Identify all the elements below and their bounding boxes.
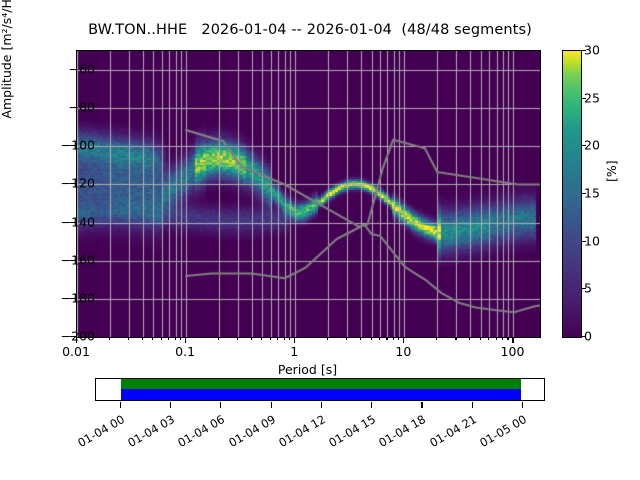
colorbar-tick-label: 30 bbox=[584, 43, 600, 58]
x-tick-mark bbox=[237, 337, 238, 340]
x-tick-mark bbox=[371, 337, 372, 340]
x-tick-mark bbox=[488, 337, 489, 340]
colorbar-tick-mark bbox=[581, 288, 586, 289]
x-tick-label: 1 bbox=[290, 344, 298, 359]
timeline-tick-mark bbox=[371, 402, 372, 408]
timeline-tick-mark bbox=[522, 402, 523, 408]
colorbar-tick-mark bbox=[581, 50, 586, 51]
timeline-date-label: 01-04 09 bbox=[220, 412, 277, 453]
x-tick-mark bbox=[502, 337, 503, 340]
x-tick-mark bbox=[346, 337, 347, 340]
colorbar-tick-label: 15 bbox=[584, 186, 600, 201]
x-tick-mark bbox=[496, 337, 497, 340]
x-tick-mark bbox=[294, 337, 295, 343]
timeline-date-label: 01-04 03 bbox=[120, 412, 177, 453]
x-tick-mark bbox=[109, 337, 110, 340]
timeline-axes[interactable] bbox=[95, 378, 545, 401]
y-axis-label: Amplitude [m²/s⁴/Hz] [dB] bbox=[0, 0, 14, 138]
y-tick-label: −100 bbox=[35, 138, 95, 153]
x-tick-mark bbox=[436, 337, 437, 340]
y-tick-mark bbox=[70, 145, 76, 146]
psd-segment-bar bbox=[121, 389, 522, 401]
x-tick-mark bbox=[469, 337, 470, 340]
timeline-date-label: 01-04 18 bbox=[371, 412, 428, 453]
x-tick-mark bbox=[218, 337, 219, 340]
ppsd-plot-area[interactable] bbox=[76, 50, 541, 338]
x-tick-mark bbox=[152, 337, 153, 340]
x-tick-mark bbox=[277, 337, 278, 340]
timeline-date-label: 01-04 15 bbox=[321, 412, 378, 453]
x-tick-mark bbox=[379, 337, 380, 340]
timeline-tick-mark bbox=[421, 402, 422, 408]
data-coverage-bar bbox=[121, 379, 522, 389]
x-tick-mark bbox=[455, 337, 456, 340]
y-tick-label: −140 bbox=[35, 214, 95, 229]
y-tick-mark bbox=[70, 69, 76, 70]
timeline-date-label: 01-04 00 bbox=[70, 412, 127, 453]
x-tick-mark bbox=[360, 337, 361, 340]
x-tick-label: 100 bbox=[501, 344, 525, 359]
x-tick-mark bbox=[161, 337, 162, 340]
colorbar-tick-label: 20 bbox=[584, 138, 600, 153]
y-tick-label: −80 bbox=[35, 100, 95, 115]
timeline-date-label: 01-05 00 bbox=[472, 412, 529, 453]
y-tick-label: −200 bbox=[35, 329, 95, 344]
timeline-tick-mark bbox=[472, 402, 473, 408]
timeline-tick-mark bbox=[321, 402, 322, 408]
x-tick-mark bbox=[185, 337, 186, 343]
x-tick-mark bbox=[386, 337, 387, 340]
colorbar-label: [%] bbox=[604, 122, 619, 182]
timeline-tick-mark bbox=[271, 402, 272, 408]
x-tick-mark bbox=[398, 337, 399, 340]
y-tick-mark bbox=[70, 183, 76, 184]
x-tick-mark bbox=[76, 337, 77, 343]
y-tick-label: −60 bbox=[35, 62, 95, 77]
x-tick-label: 0.01 bbox=[62, 344, 90, 359]
y-tick-label: −160 bbox=[35, 252, 95, 267]
timeline-tick-mark bbox=[120, 402, 121, 408]
colorbar bbox=[562, 50, 582, 338]
y-tick-mark bbox=[70, 222, 76, 223]
colorbar-tick-mark bbox=[581, 336, 586, 337]
timeline-date-label: 01-04 21 bbox=[422, 412, 479, 453]
timeline-date-label: 01-04 06 bbox=[170, 412, 227, 453]
x-tick-label: 0.1 bbox=[175, 344, 195, 359]
x-tick-mark bbox=[261, 337, 262, 340]
x-tick-mark bbox=[512, 337, 513, 343]
colorbar-tick-mark bbox=[581, 98, 586, 99]
x-tick-mark bbox=[175, 337, 176, 340]
x-tick-mark bbox=[480, 337, 481, 340]
x-tick-mark bbox=[142, 337, 143, 340]
x-axis-label: Period [s] bbox=[76, 362, 539, 377]
x-tick-mark bbox=[289, 337, 290, 340]
timeline-date-label: 01-04 12 bbox=[271, 412, 328, 453]
y-tick-label: −120 bbox=[35, 176, 95, 191]
y-tick-label: −180 bbox=[35, 290, 95, 305]
x-tick-mark bbox=[507, 337, 508, 340]
colorbar-tick-label: 25 bbox=[584, 90, 600, 105]
colorbar-tick-mark bbox=[581, 145, 586, 146]
colorbar-tick-label: 10 bbox=[584, 233, 600, 248]
y-tick-mark bbox=[70, 260, 76, 261]
colorbar-tick-mark bbox=[581, 193, 586, 194]
x-tick-mark bbox=[403, 337, 404, 343]
colorbar-tick-mark bbox=[581, 241, 586, 242]
x-tick-mark bbox=[128, 337, 129, 340]
timeline-tick-mark bbox=[220, 402, 221, 408]
x-tick-mark bbox=[393, 337, 394, 340]
x-tick-label: 10 bbox=[395, 344, 411, 359]
x-tick-mark bbox=[327, 337, 328, 340]
x-tick-mark bbox=[251, 337, 252, 340]
x-tick-mark bbox=[168, 337, 169, 340]
timeline-tick-mark bbox=[170, 402, 171, 408]
page-title: BW.TON..HHE 2026-01-04 -- 2026-01-04 (48… bbox=[0, 22, 620, 38]
ppsd-figure: BW.TON..HHE 2026-01-04 -- 2026-01-04 (48… bbox=[0, 0, 640, 480]
x-tick-mark bbox=[284, 337, 285, 340]
y-tick-mark bbox=[70, 298, 76, 299]
x-tick-mark bbox=[180, 337, 181, 340]
x-tick-mark bbox=[270, 337, 271, 340]
y-tick-mark bbox=[70, 107, 76, 108]
